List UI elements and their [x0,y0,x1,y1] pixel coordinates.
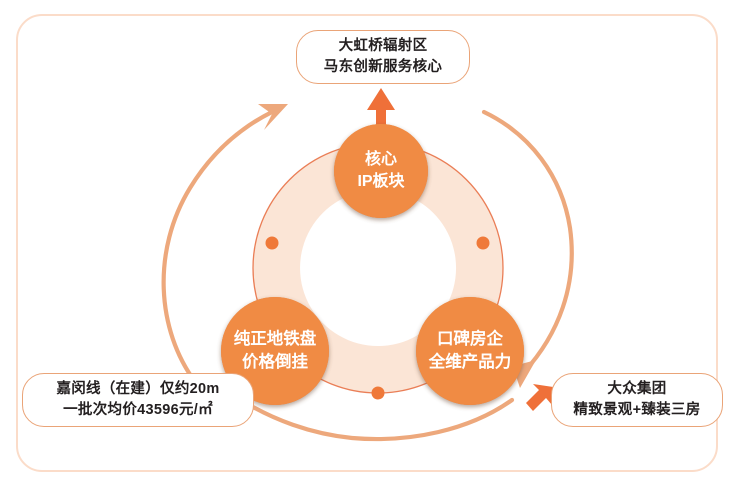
dot-bottom-icon [372,387,385,400]
label-top-line2: 马东创新服务核心 [324,57,442,78]
label-right-dazhong-group[interactable]: 大众集团 精致景观+臻装三房 [551,373,723,427]
node-metro-price-line1: 纯正地铁盘 [234,329,317,350]
node-core-ip[interactable]: 核心 IP板块 [334,124,428,218]
node-brand-product[interactable]: 口碑房企 全维产品力 [416,297,524,405]
label-left-line1: 嘉闵线（在建）仅约20m [56,379,219,400]
dot-upper-left-icon [266,237,279,250]
label-right-line2: 精致景观+臻装三房 [573,400,700,421]
label-top-hongqiao[interactable]: 大虹桥辐射区 马东创新服务核心 [296,30,470,84]
label-left-line2: 一批次均价43596元/㎡ [63,400,213,421]
diagram-canvas: 核心 IP板块 纯正地铁盘 价格倒挂 口碑房企 全维产品力 大虹桥辐射区 马东创… [0,0,740,497]
node-core-ip-line2: IP板块 [357,172,404,193]
dot-upper-right-icon [477,237,490,250]
node-core-ip-line1: 核心 [365,150,397,171]
pointer-arrow-to-top-label [367,88,395,128]
node-metro-price-line2: 价格倒挂 [242,352,308,373]
node-brand-product-line2: 全维产品力 [429,352,512,373]
label-right-line1: 大众集团 [607,379,666,400]
node-brand-product-line1: 口碑房企 [437,329,503,350]
label-left-jiamin-line[interactable]: 嘉闵线（在建）仅约20m 一批次均价43596元/㎡ [22,373,254,427]
label-top-line1: 大虹桥辐射区 [339,36,428,57]
